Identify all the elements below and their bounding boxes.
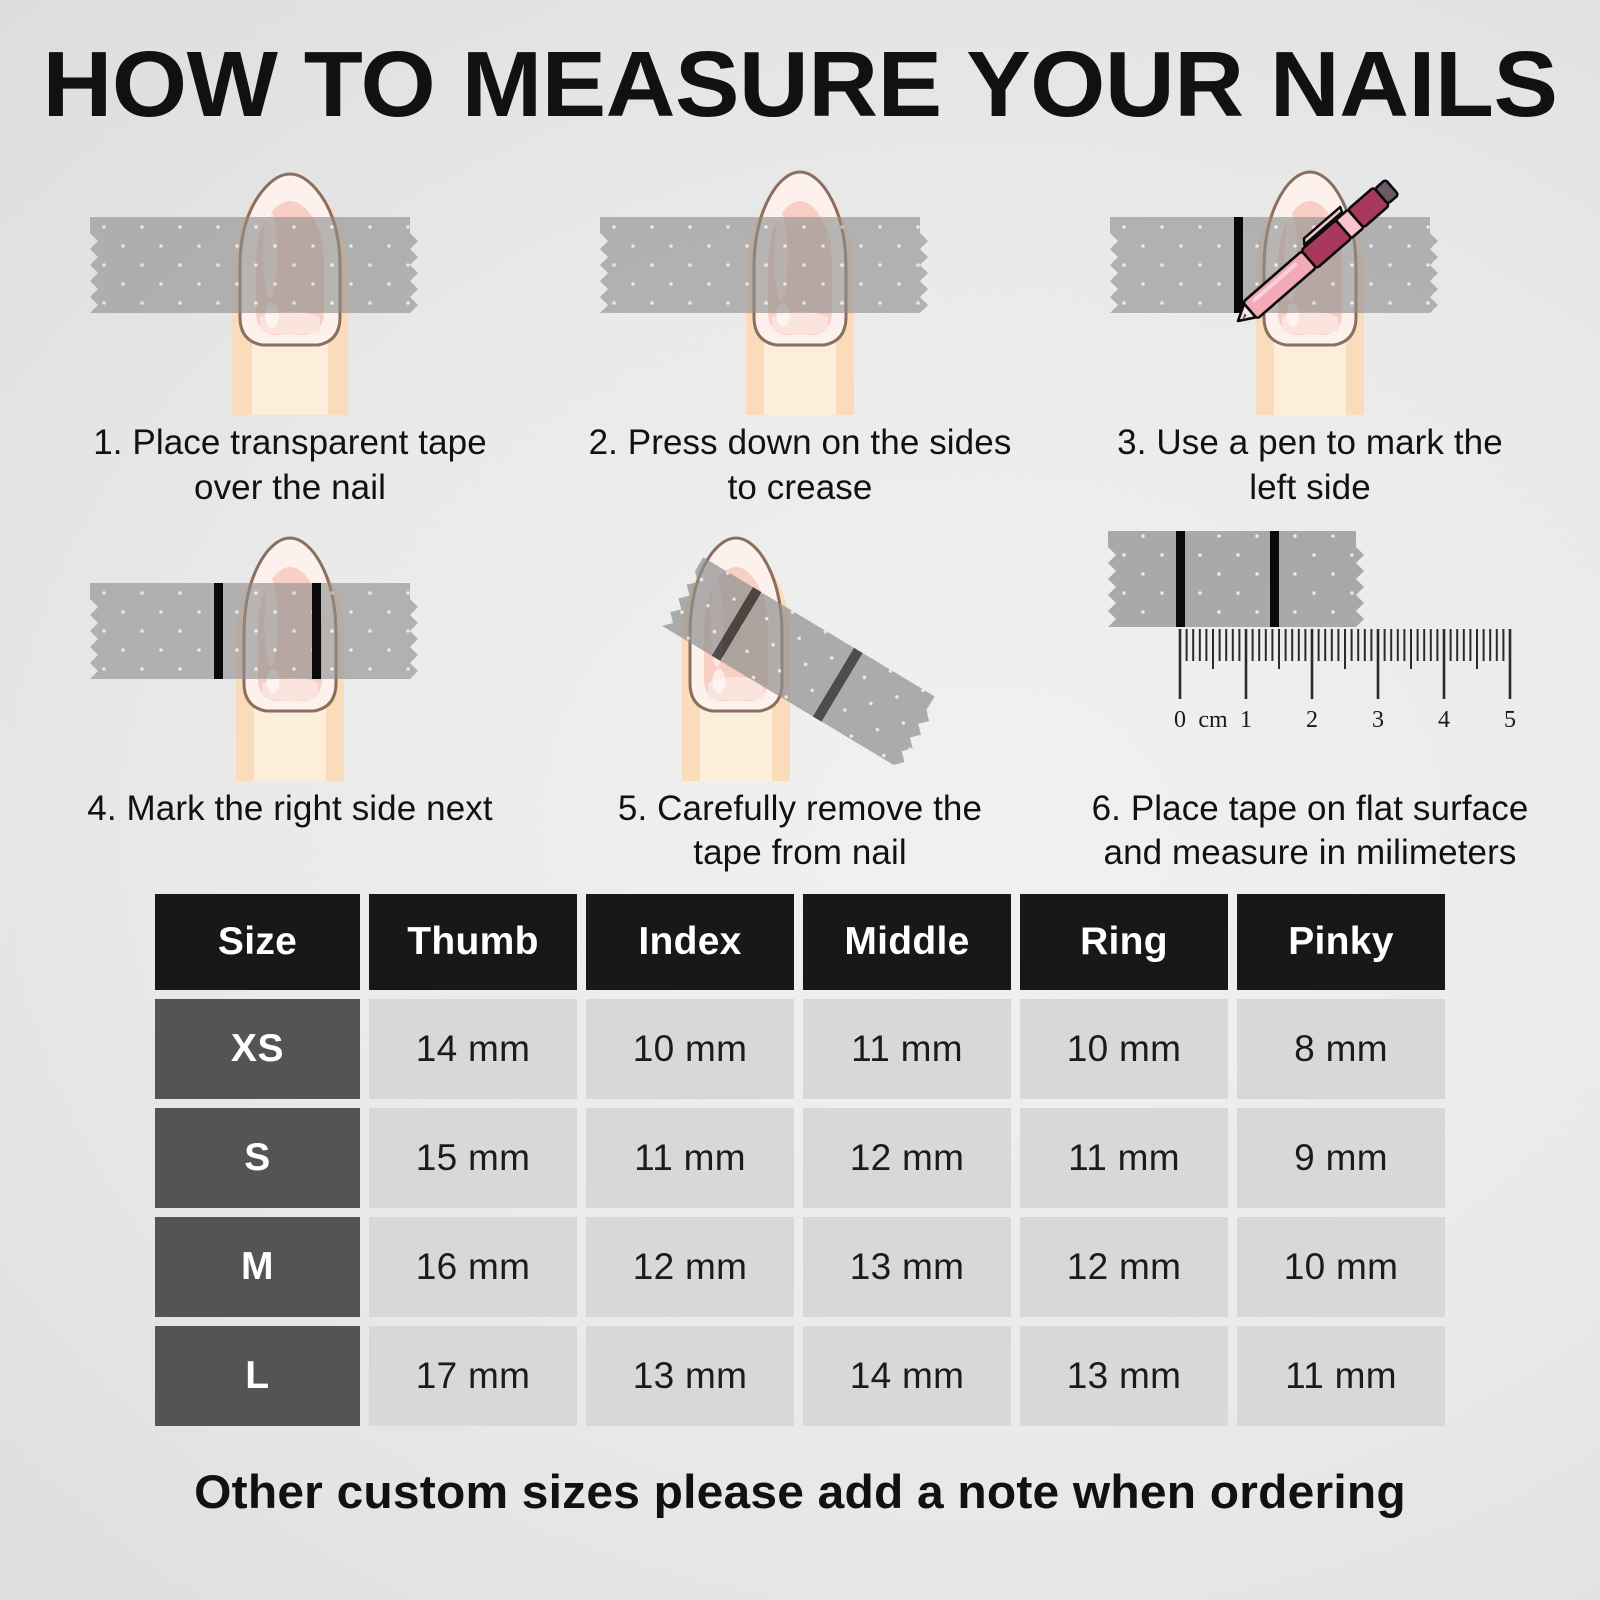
cell-l-thumb: 17 mm (369, 1326, 577, 1426)
step-1: 1. Place transparent tape over the nail (35, 145, 545, 511)
column-header-pinky: Pinky (1237, 894, 1445, 990)
cell-l-middle: 14 mm (803, 1326, 1011, 1426)
finger-illustration-pen (1210, 145, 1410, 415)
step-3-caption: 3. Use a pen to mark the left side (1090, 421, 1530, 511)
column-header-index: Index (586, 894, 794, 990)
step-3: 3. Use a pen to mark the left side (1055, 145, 1565, 511)
ruler-label-2: 2 (1306, 707, 1318, 733)
step-4: 4. Mark the right side next (35, 511, 545, 877)
cell-l-ring: 13 mm (1020, 1326, 1228, 1426)
step-2: 2. Press down on the sides to crease (545, 145, 1055, 511)
step-6-caption: 6. Place tape on flat surface and measur… (1090, 787, 1530, 877)
cell-s-middle: 12 mm (803, 1108, 1011, 1208)
column-header-thumb: Thumb (369, 894, 577, 990)
column-header-ring: Ring (1020, 894, 1228, 990)
finger-illustration-marked (190, 511, 390, 781)
step-1-caption: 1. Place transparent tape over the nail (70, 421, 510, 511)
cell-m-middle: 13 mm (803, 1217, 1011, 1317)
cell-xs-pinky: 8 mm (1237, 999, 1445, 1099)
size-label-l: L (155, 1326, 360, 1426)
step-1-figure (60, 145, 520, 415)
table-row: M 16 mm 12 mm 13 mm 12 mm 10 mm (155, 1217, 1445, 1317)
step-5-caption: 5. Carefully remove the tape from nail (580, 787, 1020, 877)
step-2-caption: 2. Press down on the sides to crease (580, 421, 1020, 511)
cell-l-index: 13 mm (586, 1326, 794, 1426)
ruler-mark-right (1270, 531, 1279, 627)
cell-s-thumb: 15 mm (369, 1108, 577, 1208)
ruler-labels: 0 cm 1 2 3 4 5 (1174, 707, 1516, 733)
table-header-row: Size Thumb Index Middle Ring Pinky (155, 894, 1445, 990)
size-label-s: S (155, 1108, 360, 1208)
ruler-label-0: 0 (1174, 707, 1186, 733)
custom-size-note: Other custom sizes please add a note whe… (0, 1464, 1600, 1519)
cell-s-index: 11 mm (586, 1108, 794, 1208)
step-4-figure (60, 511, 520, 781)
table-row: L 17 mm 13 mm 14 mm 13 mm 11 mm (155, 1326, 1445, 1426)
step-2-figure (570, 145, 1030, 415)
step-6: 0 cm 1 2 3 4 5 6. Place tape on flat sur… (1055, 511, 1565, 877)
cell-m-index: 12 mm (586, 1217, 794, 1317)
cell-xs-middle: 11 mm (803, 999, 1011, 1099)
cell-m-thumb: 16 mm (369, 1217, 577, 1317)
size-label-m: M (155, 1217, 360, 1317)
cell-m-pinky: 10 mm (1237, 1217, 1445, 1317)
step-5-figure (570, 511, 1030, 781)
step-3-figure (1080, 145, 1540, 415)
table-row: S 15 mm 11 mm 12 mm 11 mm 9 mm (155, 1108, 1445, 1208)
size-chart-table: Size Thumb Index Middle Ring Pinky XS 14… (155, 894, 1445, 1426)
cell-xs-index: 10 mm (586, 999, 794, 1099)
steps-grid: 1. Place transparent tape over the nail (35, 145, 1565, 876)
cell-m-ring: 12 mm (1020, 1217, 1228, 1317)
size-label-xs: XS (155, 999, 360, 1099)
cell-s-pinky: 9 mm (1237, 1108, 1445, 1208)
cell-xs-thumb: 14 mm (369, 999, 577, 1099)
tape-strip-on-ruler (1108, 531, 1364, 627)
ruler-label-5: 5 (1504, 707, 1516, 733)
step-5: 5. Carefully remove the tape from nail (545, 511, 1055, 877)
ruler-unit-label: cm (1198, 707, 1228, 733)
cell-l-pinky: 11 mm (1237, 1326, 1445, 1426)
column-header-middle: Middle (803, 894, 1011, 990)
cell-xs-ring: 10 mm (1020, 999, 1228, 1099)
page-title: HOW TO MEASURE YOUR NAILS (0, 0, 1600, 131)
ruler-label-1: 1 (1240, 707, 1252, 733)
ruler-ticks (1180, 629, 1510, 699)
step-6-figure: 0 cm 1 2 3 4 5 (1080, 511, 1540, 781)
cell-s-ring: 11 mm (1020, 1108, 1228, 1208)
column-header-size: Size (155, 894, 360, 990)
finger-illustration (190, 145, 390, 415)
table-row: XS 14 mm 10 mm 11 mm 10 mm 8 mm (155, 999, 1445, 1099)
ruler-label-4: 4 (1438, 707, 1450, 733)
finger-illustration-creased (700, 145, 900, 415)
ruler-label-3: 3 (1372, 707, 1384, 733)
finger-illustration-peel (636, 511, 836, 781)
step-4-caption: 4. Mark the right side next (70, 787, 510, 832)
ruler-mark-left (1176, 531, 1185, 627)
